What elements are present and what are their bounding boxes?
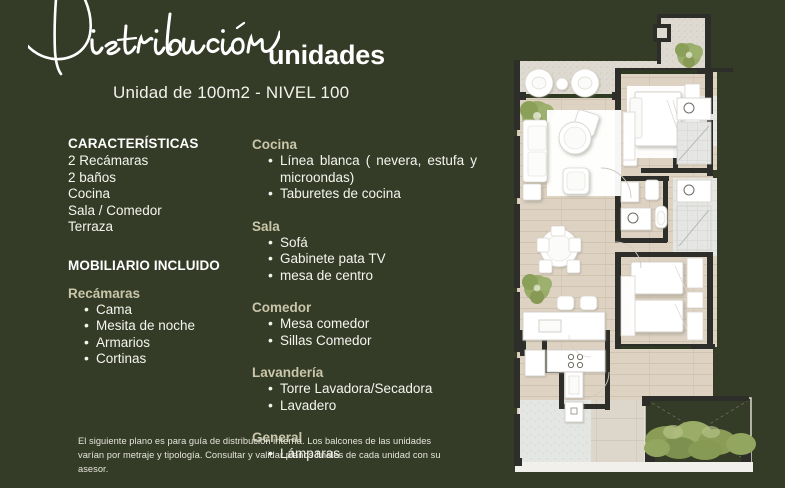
list-item: Mesita de noche [86, 318, 248, 335]
list-item: Línea blanca ( nevera, estufa y microond… [270, 153, 477, 186]
header-title-unidades: unidades [268, 40, 385, 71]
sala-furniture [523, 109, 621, 200]
left-text-column: CARACTERÍSTICAS 2 Recámaras 2 baños Coci… [68, 136, 248, 368]
lavanderia-furniture [565, 372, 583, 422]
poster-root: unidades Unidad de 100m2 - NIVEL 100 CAR… [0, 0, 785, 488]
list-item: Gabinete pata TV [270, 251, 477, 268]
group-items: Cama Mesita de noche Armarios Cortinas [68, 302, 248, 368]
header: unidades Unidad de 100m2 - NIVEL 100 [0, 0, 500, 112]
caracteristica-item: Sala / Comedor [68, 203, 248, 220]
list-item: Lavadero [270, 398, 477, 415]
group-heading: Cocina [252, 136, 477, 153]
caracteristica-item: Cocina [68, 186, 248, 203]
list-item: Mesa comedor [270, 316, 477, 333]
group-items: Mesa comedor Sillas Comedor [252, 316, 477, 349]
group-items: Torre Lavadora/Secadora Lavadero [252, 381, 477, 414]
right-text-column: Cocina Línea blanca ( nevera, estufa y m… [252, 136, 477, 463]
group-heading: Recámaras [68, 285, 248, 302]
list-item: mesa de centro [270, 268, 477, 285]
caracteristica-item: 2 Recámaras [68, 153, 248, 170]
group-comedor: Comedor Mesa comedor Sillas Comedor [252, 299, 477, 349]
disclaimer-text: El siguiente plano es para guía de distr… [78, 434, 450, 476]
header-subtitle: Unidad de 100m2 - NIVEL 100 [113, 83, 349, 103]
group-heading: Comedor [252, 299, 477, 316]
group-lavanderia: Lavandería Torre Lavadora/Secadora Lavad… [252, 364, 477, 414]
group-items: Sofá Gabinete pata TV mesa de centro [252, 235, 477, 285]
caracteristica-item: 2 baños [68, 170, 248, 187]
group-cocina: Cocina Línea blanca ( nevera, estufa y m… [252, 136, 477, 203]
list-item: Cortinas [86, 351, 248, 368]
kitchen-island [523, 312, 605, 340]
group-sala: Sala Sofá Gabinete pata TV mesa de centr… [252, 218, 477, 285]
list-item: Taburetes de cocina [270, 186, 477, 203]
caracteristica-item: Terraza [68, 219, 248, 236]
group-heading: Sala [252, 218, 477, 235]
caracteristicas-title: CARACTERÍSTICAS [68, 136, 248, 152]
mobiliario-title: MOBILIARIO INCLUIDO [68, 258, 248, 274]
group-recamaras: Recámaras Cama Mesita de noche Armarios … [68, 285, 248, 368]
group-items: Línea blanca ( nevera, estufa y microond… [252, 153, 477, 203]
list-item: Sillas Comedor [270, 333, 477, 350]
list-item: Armarios [86, 335, 248, 352]
list-item: Sofá [270, 235, 477, 252]
list-item: Torre Lavadora/Secadora [270, 381, 477, 398]
script-title-distribucion [28, 0, 278, 72]
floor-plan [497, 0, 785, 488]
group-heading: Lavandería [252, 364, 477, 381]
list-item: Cama [86, 302, 248, 319]
